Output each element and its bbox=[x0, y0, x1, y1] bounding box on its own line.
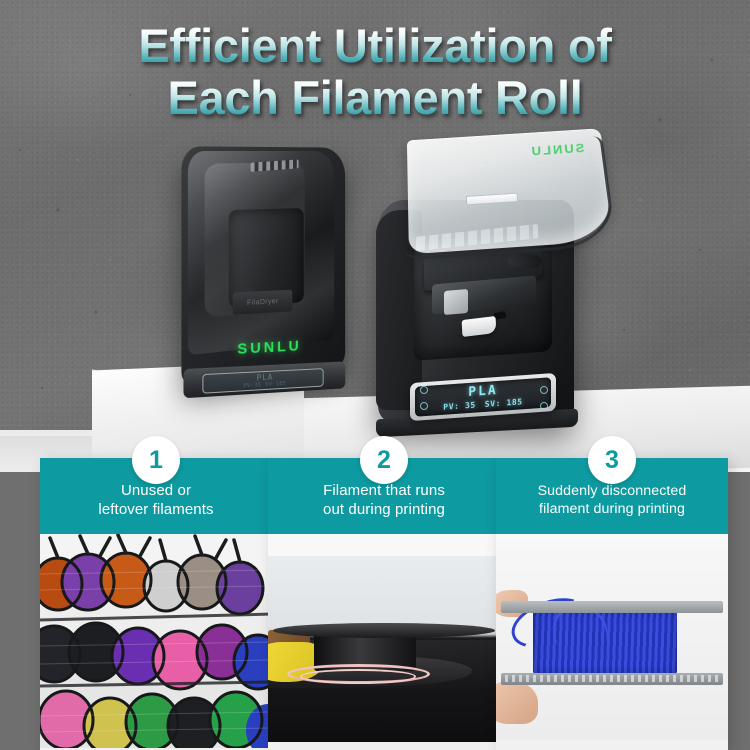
benefit-cards-row: 1 Unused or leftover filaments bbox=[0, 440, 750, 750]
card-1-caption: Unused or leftover filaments bbox=[98, 481, 213, 519]
photo-hand-holding-blue-spool bbox=[496, 542, 728, 740]
product-filament-dryer-closed: FilaDryer SUNLU PLA PV:35 SV:185 bbox=[176, 143, 358, 391]
card-2-photo bbox=[268, 556, 500, 742]
headline: Efficient Utilization of Each Filament R… bbox=[0, 22, 750, 122]
card-3-caption-line-1: Suddenly disconnected bbox=[538, 482, 687, 500]
dryer-right-knob-3[interactable] bbox=[420, 402, 428, 410]
photo-filament-spool-rack bbox=[40, 534, 272, 748]
card-3-photo bbox=[496, 542, 728, 740]
card-1: 1 Unused or leftover filaments bbox=[40, 458, 272, 750]
card-1-banner: 1 Unused or leftover filaments bbox=[40, 458, 272, 534]
lcd-sv: SV: 185 bbox=[485, 397, 523, 409]
card-1-caption-line-2: leftover filaments bbox=[98, 500, 213, 519]
dryer-right-mechanism-block bbox=[444, 289, 468, 315]
card-3: 3 Suddenly disconnected filament during … bbox=[496, 458, 728, 750]
spool-flange-perforations bbox=[505, 675, 718, 682]
product-filament-dryer-open: SUNLU PLA PV: 35 SV: 185 bbox=[362, 128, 612, 428]
card-3-number: 3 bbox=[605, 448, 619, 473]
infographic-stage: Efficient Utilization of Each Filament R… bbox=[0, 0, 750, 750]
card-3-number-badge: 3 bbox=[588, 436, 636, 484]
card-2: 2 Filament that runs out during printing bbox=[268, 458, 500, 750]
lcd-pv: PV: 35 bbox=[443, 401, 476, 412]
card-1-photo bbox=[40, 534, 272, 748]
headline-line-2: Each Filament Roll bbox=[0, 74, 750, 122]
dryer-left-lcd-readout: PV:35 SV:185 bbox=[243, 381, 286, 389]
card-2-number: 2 bbox=[377, 448, 391, 473]
card-2-caption: Filament that runs out during printing bbox=[323, 481, 445, 519]
dryer-left-inner-plate: FilaDryer bbox=[233, 290, 293, 315]
card-1-number-badge: 1 bbox=[132, 436, 180, 484]
hand-fingers bbox=[496, 681, 538, 725]
card-2-caption-line-2: out during printing bbox=[323, 500, 445, 519]
black-spool-flange bbox=[273, 623, 496, 638]
card-3-banner: 3 Suddenly disconnected filament during … bbox=[496, 458, 728, 534]
dryer-right-knob-4[interactable] bbox=[540, 402, 548, 410]
card-3-caption-line-2: filament during printing bbox=[538, 500, 687, 518]
dryer-left-inner-label: FilaDryer bbox=[247, 298, 279, 307]
dryer-right-knob-1[interactable] bbox=[420, 386, 428, 394]
dryer-right-knob-2[interactable] bbox=[540, 386, 548, 394]
photo-empty-spool-on-printer bbox=[268, 556, 500, 742]
card-2-number-badge: 2 bbox=[360, 436, 408, 484]
spool-flange-top bbox=[501, 601, 724, 613]
card-2-banner: 2 Filament that runs out during printing bbox=[268, 458, 500, 534]
card-3-caption: Suddenly disconnected filament during pr… bbox=[538, 482, 687, 518]
dryer-right-lcd-readout: PV: 35 SV: 185 bbox=[443, 397, 522, 412]
card-1-number: 1 bbox=[149, 448, 163, 473]
headline-line-1: Efficient Utilization of bbox=[0, 22, 750, 70]
dryer-right-lcd-material: PLA bbox=[468, 384, 497, 399]
